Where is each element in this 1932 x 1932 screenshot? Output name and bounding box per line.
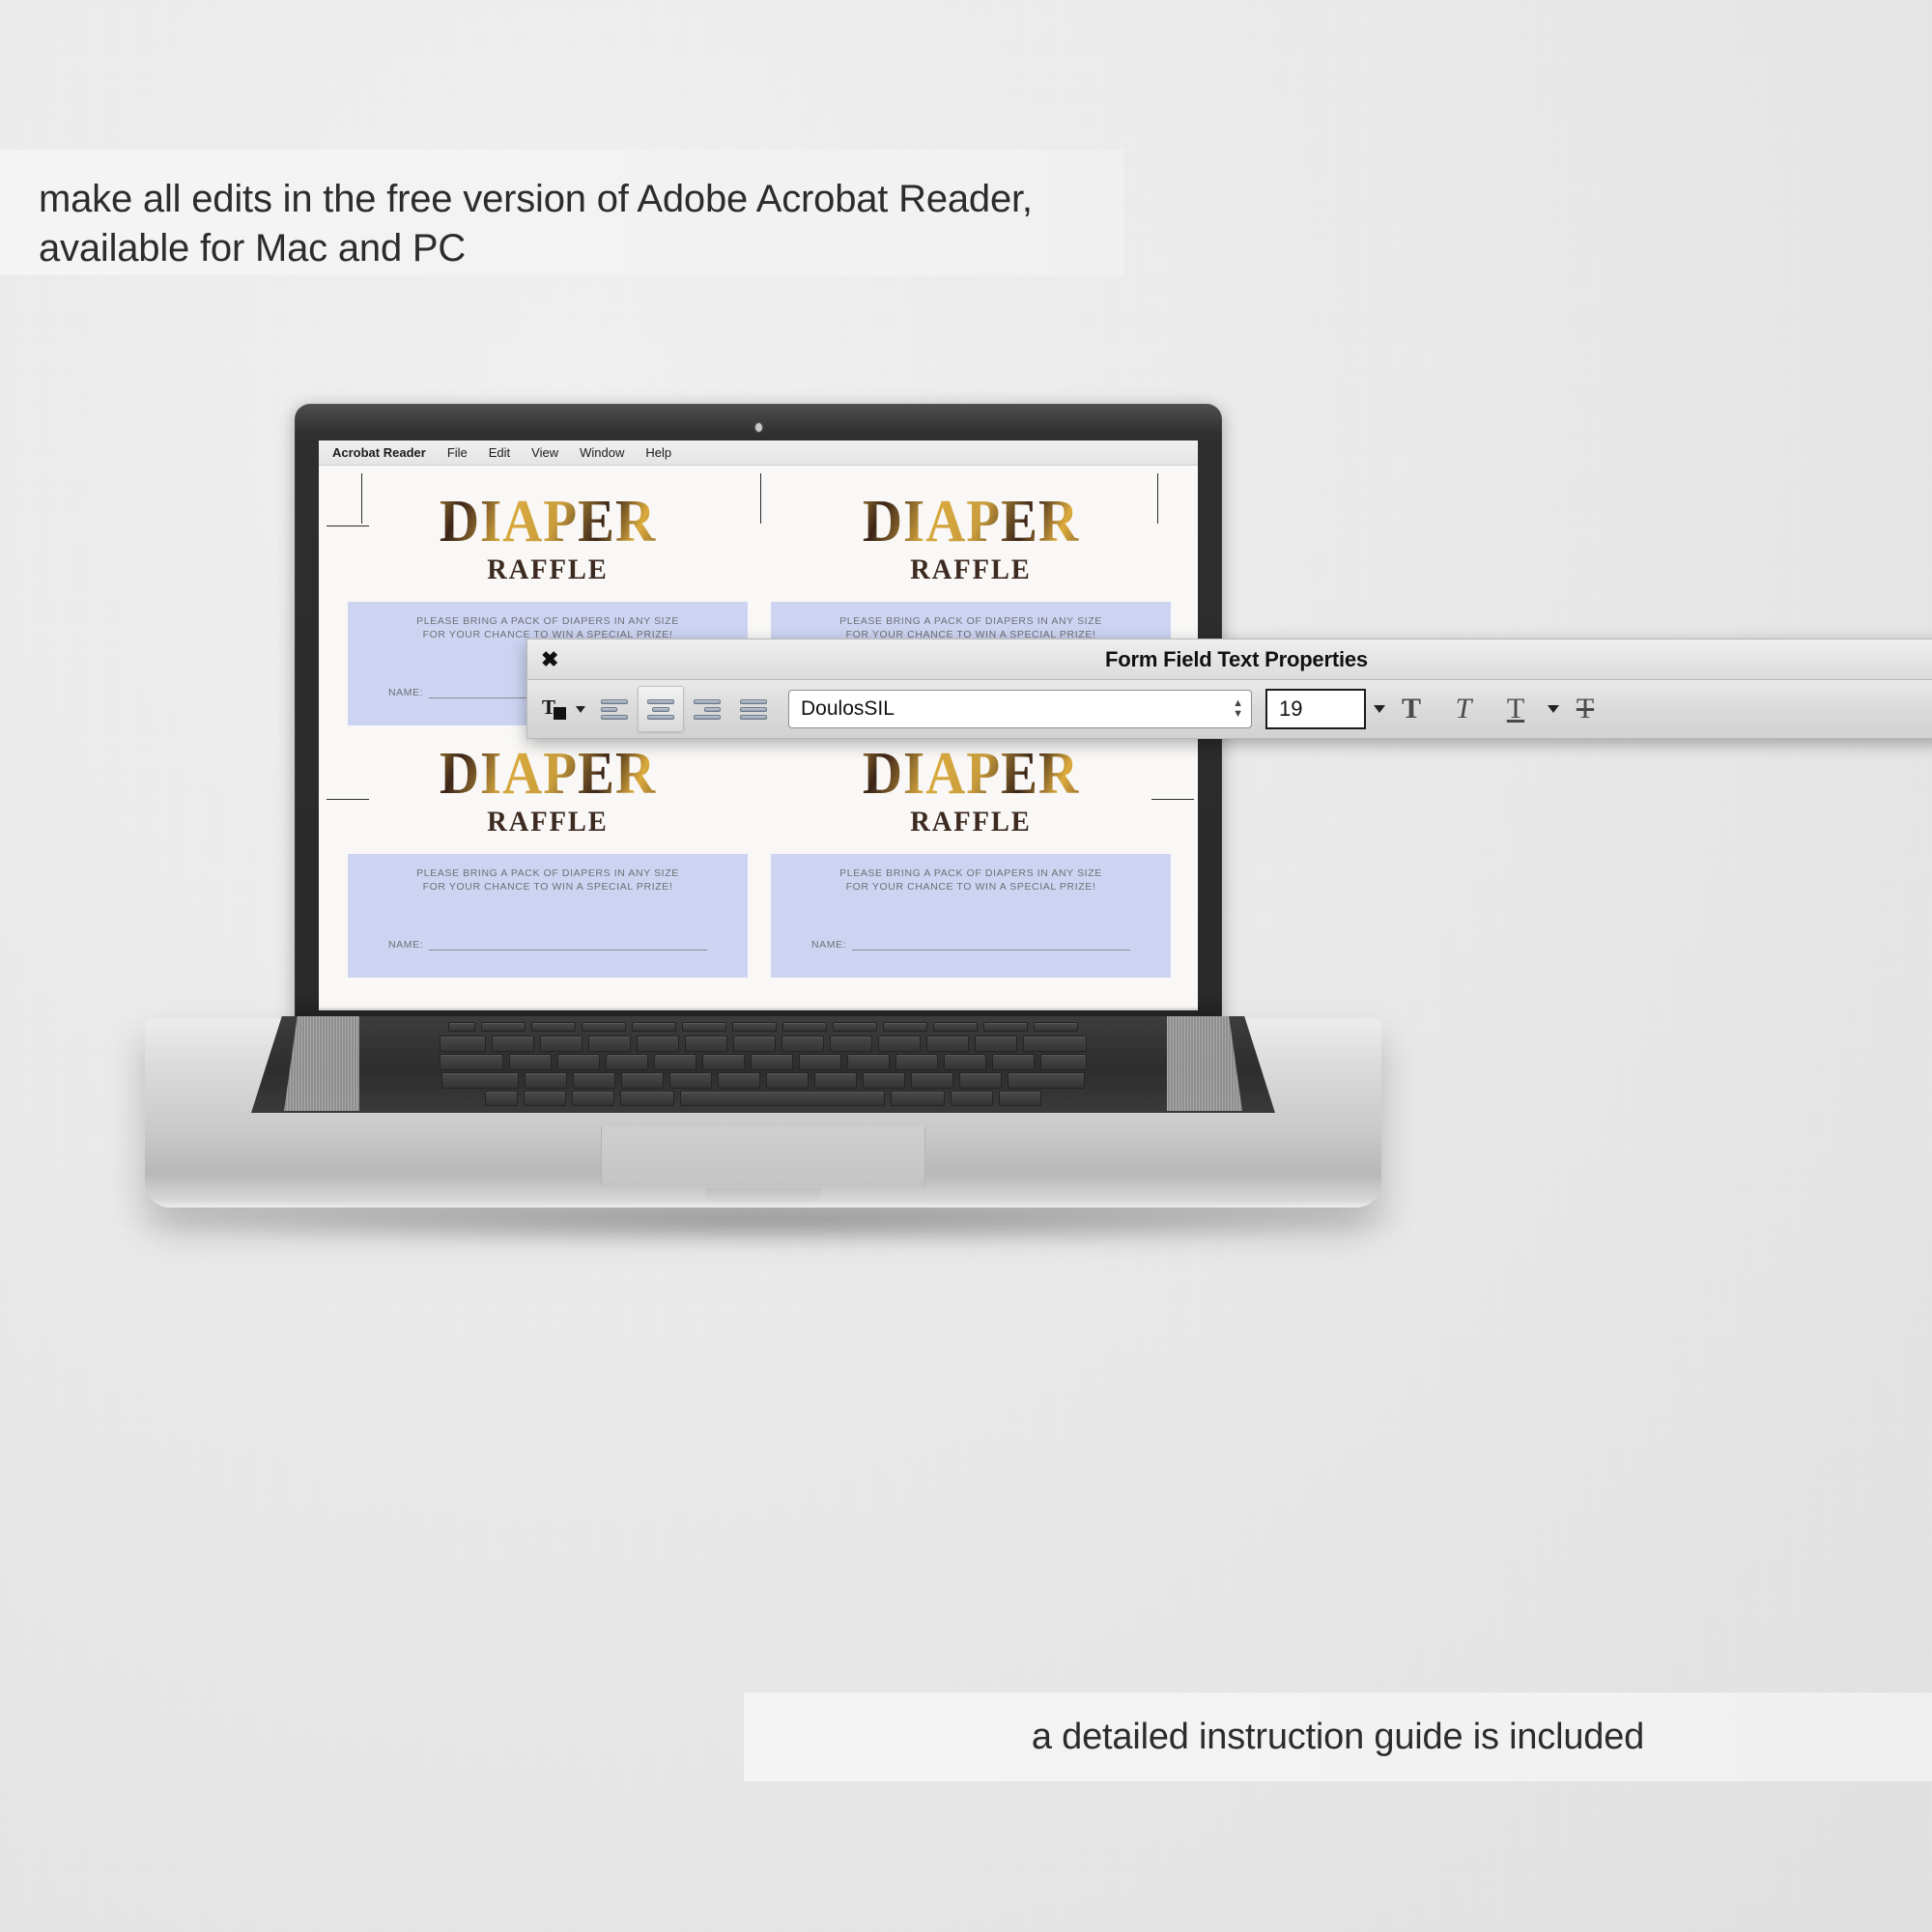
align-justify-button[interactable] bbox=[730, 686, 777, 732]
text-properties-icon: T bbox=[541, 695, 570, 724]
card-info-line-1: PLEASE BRING A PACK OF DIAPERS IN ANY SI… bbox=[771, 614, 1171, 628]
card-info-line-1: PLEASE BRING A PACK OF DIAPERS IN ANY SI… bbox=[348, 614, 748, 628]
screen-bottom-shade bbox=[319, 1007, 1198, 1010]
card-name-field[interactable] bbox=[852, 939, 1130, 951]
italic-icon: T bbox=[1456, 693, 1472, 725]
top-caption-line-1: make all edits in the free version of Ad… bbox=[39, 175, 1123, 224]
laptop-mockup: Acrobat Reader File Edit View Window Hel… bbox=[145, 404, 1381, 1225]
menu-item-edit[interactable]: Edit bbox=[478, 445, 521, 460]
italic-button[interactable]: T bbox=[1437, 686, 1490, 732]
card-name-field[interactable] bbox=[429, 939, 707, 951]
front-notch bbox=[705, 1188, 821, 1202]
card-title: DIAPER bbox=[364, 493, 732, 552]
card-subtitle: RAFFLE bbox=[781, 806, 1160, 838]
align-left-icon bbox=[601, 699, 628, 720]
raffle-card[interactable]: DIAPER RAFFLE PLEASE BRING A PACK OF DIA… bbox=[771, 739, 1171, 991]
font-family-select[interactable]: DoulosSIL ▲▼ bbox=[788, 690, 1252, 728]
align-right-icon bbox=[694, 699, 721, 720]
card-info-line-1: PLEASE BRING A PACK OF DIAPERS IN ANY SI… bbox=[771, 867, 1171, 880]
bottom-caption-text: a detailed instruction guide is included bbox=[1032, 1717, 1644, 1758]
underline-icon: T bbox=[1507, 693, 1524, 725]
card-info-panel: PLEASE BRING A PACK OF DIAPERS IN ANY SI… bbox=[348, 854, 748, 978]
align-center-button[interactable] bbox=[638, 686, 684, 732]
card-name-label: NAME: bbox=[388, 687, 423, 698]
card-subtitle: RAFFLE bbox=[781, 554, 1160, 586]
card-name-label: NAME: bbox=[388, 939, 423, 951]
top-caption-banner: make all edits in the free version of Ad… bbox=[0, 150, 1123, 275]
card-name-row: NAME: bbox=[811, 939, 1130, 951]
menu-bar: Acrobat Reader File Edit View Window Hel… bbox=[319, 440, 1198, 466]
card-title: DIAPER bbox=[787, 745, 1155, 804]
font-family-value: DoulosSIL bbox=[801, 697, 895, 721]
card-info-panel: PLEASE BRING A PACK OF DIAPERS IN ANY SI… bbox=[771, 854, 1171, 978]
strikethrough-icon: T bbox=[1577, 693, 1594, 725]
bold-icon: T bbox=[1402, 693, 1421, 725]
card-subtitle: RAFFLE bbox=[357, 806, 737, 838]
dialog-toolbar: T DoulosSIL bbox=[526, 679, 1932, 739]
strikethrough-button[interactable]: T bbox=[1559, 686, 1611, 732]
svg-text:T: T bbox=[542, 696, 555, 719]
font-size-value: 19 bbox=[1279, 696, 1302, 722]
raffle-card[interactable]: DIAPER RAFFLE PLEASE BRING A PACK OF DIA… bbox=[348, 739, 748, 991]
font-size-chevron-down-icon[interactable] bbox=[1374, 705, 1385, 713]
bottom-caption-banner: a detailed instruction guide is included bbox=[744, 1692, 1932, 1781]
webcam-icon bbox=[755, 423, 762, 432]
chevron-down-icon[interactable] bbox=[576, 706, 585, 713]
underline-button[interactable]: T bbox=[1490, 686, 1542, 732]
stepper-icon[interactable]: ▲▼ bbox=[1233, 699, 1243, 719]
align-left-button[interactable] bbox=[591, 686, 638, 732]
keyboard bbox=[251, 1016, 1275, 1113]
menu-item-view[interactable]: View bbox=[521, 445, 569, 460]
card-info-line-1: PLEASE BRING A PACK OF DIAPERS IN ANY SI… bbox=[348, 867, 748, 880]
card-info-line-2: FOR YOUR CHANCE TO WIN A SPECIAL PRIZE! bbox=[348, 880, 748, 894]
font-size-input[interactable]: 19 bbox=[1265, 689, 1366, 729]
align-justify-icon bbox=[740, 699, 767, 720]
form-field-text-properties-dialog: ✖ Form Field Text Properties T bbox=[526, 639, 1932, 739]
bold-button[interactable]: T bbox=[1385, 686, 1437, 732]
laptop-base bbox=[145, 1018, 1381, 1207]
align-center-icon bbox=[647, 699, 674, 720]
keyboard-deck bbox=[251, 1016, 1275, 1113]
card-subtitle: RAFFLE bbox=[357, 554, 737, 586]
dialog-title: Form Field Text Properties bbox=[527, 647, 1932, 672]
top-caption-line-2: available for Mac and PC bbox=[39, 224, 1123, 273]
align-right-button[interactable] bbox=[684, 686, 730, 732]
card-title: DIAPER bbox=[787, 493, 1155, 552]
menu-item-help[interactable]: Help bbox=[635, 445, 682, 460]
menu-item-file[interactable]: File bbox=[437, 445, 478, 460]
card-info-line-2: FOR YOUR CHANCE TO WIN A SPECIAL PRIZE! bbox=[771, 880, 1171, 894]
menu-item-acrobat-reader[interactable]: Acrobat Reader bbox=[332, 445, 437, 460]
text-properties-button[interactable]: T bbox=[535, 686, 591, 732]
trackpad[interactable] bbox=[601, 1126, 925, 1186]
card-name-row: NAME: bbox=[388, 939, 707, 951]
underline-chevron-down-icon[interactable] bbox=[1548, 705, 1559, 713]
menu-item-window[interactable]: Window bbox=[569, 445, 635, 460]
card-title: DIAPER bbox=[364, 745, 732, 804]
dialog-title-bar: ✖ Form Field Text Properties bbox=[526, 639, 1932, 679]
card-name-label: NAME: bbox=[811, 939, 846, 951]
